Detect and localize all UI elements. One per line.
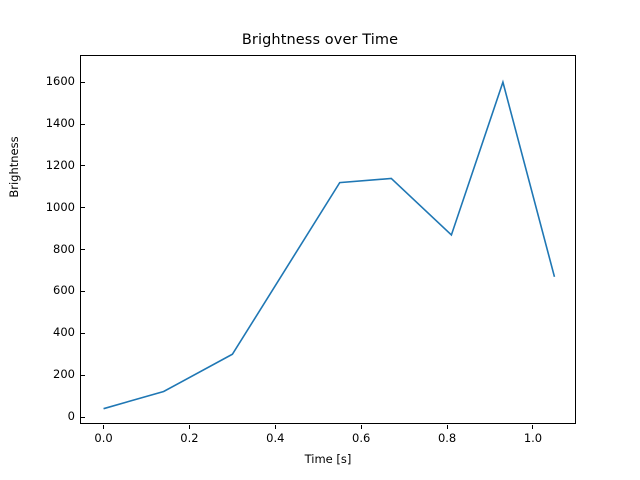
x-tick-label: 0.0 [94, 431, 112, 445]
y-tick-label: 800 [53, 242, 75, 256]
x-tick-label: 0.2 [180, 431, 198, 445]
y-tick-mark [81, 333, 85, 334]
y-tick-mark [81, 82, 85, 83]
x-axis-label: Time [s] [80, 452, 576, 466]
x-tick-mark [103, 425, 104, 429]
y-tick-label: 0 [68, 409, 75, 423]
data-line-series [81, 56, 577, 425]
y-tick-mark [81, 375, 85, 376]
series-brightness-polyline [104, 82, 555, 409]
y-tick-mark [81, 417, 85, 418]
y-tick-mark [81, 291, 85, 292]
y-tick-label: 200 [53, 367, 75, 381]
y-tick-label: 400 [53, 325, 75, 339]
y-axis-label: Brightness [7, 107, 21, 227]
y-tick-label: 1600 [46, 74, 75, 88]
x-tick-label: 0.8 [438, 431, 456, 445]
x-tick-mark [275, 425, 276, 429]
y-tick-mark [81, 165, 85, 166]
x-tick-mark [189, 425, 190, 429]
x-tick-label: 1.0 [524, 431, 542, 445]
y-tick-label: 1400 [46, 116, 75, 130]
y-tick-mark [81, 207, 85, 208]
x-tick-mark [361, 425, 362, 429]
y-tick-label: 1200 [46, 158, 75, 172]
x-tick-mark [447, 425, 448, 429]
chart-title: Brightness over Time [0, 32, 640, 48]
x-tick-label: 0.6 [352, 431, 370, 445]
x-tick-label: 0.4 [266, 431, 284, 445]
x-tick-mark [532, 425, 533, 429]
y-tick-label: 1000 [46, 200, 75, 214]
y-tick-mark [81, 249, 85, 250]
y-tick-mark [81, 124, 85, 125]
plot-area: 02004006008001000120014001600 0.00.20.40… [80, 55, 576, 424]
chart-figure: Brightness over Time 0200400600800100012… [0, 0, 640, 480]
y-tick-label: 600 [53, 283, 75, 297]
